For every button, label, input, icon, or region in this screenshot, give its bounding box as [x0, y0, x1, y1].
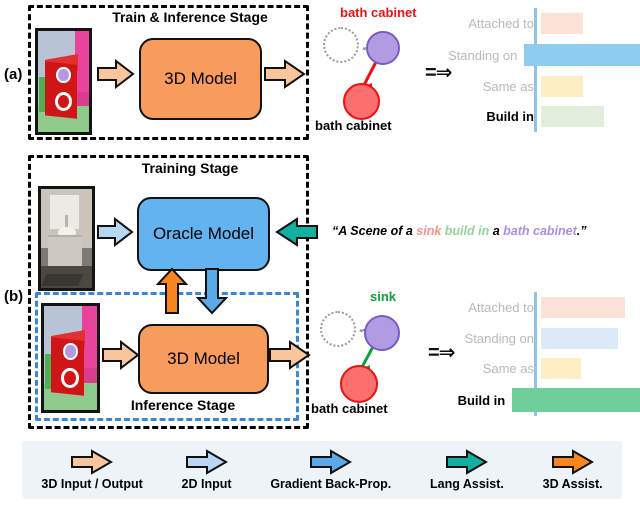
panel-a-graph-bottom-label: bath cabinet [315, 118, 392, 133]
legend-item-lang-assist: Lang Assist. [430, 449, 504, 491]
panel-b-model-box: 3D Model [138, 324, 269, 394]
panel-a-chart: Attached to Standing on Same as Build in [448, 8, 640, 132]
legend-label-1: 2D Input [182, 477, 232, 491]
panel-b-chart-label-3: Build in [448, 393, 512, 408]
panel-a-thumbnail [35, 28, 92, 135]
panel-b-pointcloud-thumbnail [41, 303, 100, 413]
caption-close-quote: ” [580, 224, 586, 238]
panel-b-stage-title: Training Stage [90, 160, 290, 176]
panel-b-oracle-box: Oracle Model [137, 197, 270, 271]
panel-a-chart-label-0: Attached to [448, 16, 541, 31]
panel-b-node-sink [364, 315, 400, 351]
panel-b-oracle-label: Oracle Model [153, 224, 254, 244]
arrow-3d-output-b [268, 340, 312, 370]
arrow-3d-assist-up [156, 267, 188, 315]
arrow-2d-input-icon [185, 449, 229, 475]
panel-b-chart-bar-2 [541, 358, 581, 379]
panel-b-model-label: 3D Model [167, 349, 240, 369]
legend-label-3: Lang Assist. [430, 477, 504, 491]
panel-b-chart-bar-3 [512, 388, 640, 412]
arrow-3d-input-output-icon [70, 449, 114, 475]
panel-b-chart-label-0: Attached to [448, 300, 541, 315]
caption-part3: a [493, 224, 503, 238]
panel-a-node-cabinet-gt [343, 83, 380, 120]
legend-item-3d-assist: 3D Assist. [543, 449, 603, 491]
panel-a-chart-bar-3 [541, 106, 604, 127]
panel-b-letter: (b) [4, 288, 23, 305]
panel-a-node-cabinet-pred [366, 31, 400, 65]
legend-item-3d-input-output: 3D Input / Output [41, 449, 142, 491]
caption-part2: build in [441, 224, 492, 238]
arrow-3d-input-b [101, 340, 141, 370]
panel-a-chart-label-3: Build in [448, 109, 541, 124]
panel-a-scene-graph: bath cabinet bath cabinet [305, 5, 425, 135]
panel-b-inference-title: Inference Stage [118, 397, 248, 413]
legend-label-0: 3D Input / Output [41, 477, 142, 491]
arrow-3d-output-a [263, 59, 307, 89]
caption-word-cabinet: bath cabinet [503, 224, 577, 238]
panel-b-graph-bottom-label: bath cabinet [311, 401, 388, 416]
panel-a-model-label: 3D Model [164, 69, 237, 89]
arrow-lang-assist-icon [445, 449, 489, 475]
panel-b-node-cabinet [340, 365, 378, 403]
caption-word-sink: sink [416, 224, 441, 238]
legend-bar: 3D Input / Output 2D Input Gradient Back… [22, 441, 622, 499]
panel-a-chart-bar-1 [524, 44, 640, 66]
panel-a-chart-label-2: Same as [448, 79, 541, 94]
panel-a-stage-title: Train & Inference Stage [90, 9, 290, 25]
arrow-lang-assist-b [271, 217, 319, 247]
legend-label-2: Gradient Back-Prop. [270, 477, 391, 491]
panel-b-chart: Attached to Standing on Same as Build in [448, 292, 640, 416]
arrow-gradient-backprop-down [196, 267, 228, 315]
panel-b-photo-thumbnail [38, 186, 95, 291]
legend-label-4: 3D Assist. [543, 477, 603, 491]
panel-b-scene-graph: sink bath cabinet [312, 288, 432, 416]
legend-item-2d-input: 2D Input [182, 449, 232, 491]
arrow-3d-input-a [96, 59, 136, 89]
panel-b-caption: “A Scene of a sink build in a bath cabin… [332, 224, 587, 238]
panel-a-model-box: 3D Model [139, 38, 262, 120]
legend-item-gradient-backprop: Gradient Back-Prop. [270, 449, 391, 491]
panel-b-chart-label-1: Standing on [448, 331, 541, 346]
panel-b-chart-bar-1 [541, 328, 618, 349]
caption-part1: A Scene of a [338, 224, 416, 238]
panel-a-letter: (a) [4, 66, 22, 83]
panel-b-chart-label-2: Same as [448, 361, 541, 376]
arrow-3d-assist-icon [551, 449, 595, 475]
arrow-gradient-backprop-icon [309, 449, 353, 475]
panel-a-chart-bar-2 [541, 76, 583, 97]
panel-b-chart-bar-0 [541, 297, 625, 318]
panel-a-chart-bar-0 [541, 13, 583, 34]
arrow-2d-input-b [96, 217, 134, 247]
panel-a-chart-label-1: Standing on [448, 48, 524, 63]
